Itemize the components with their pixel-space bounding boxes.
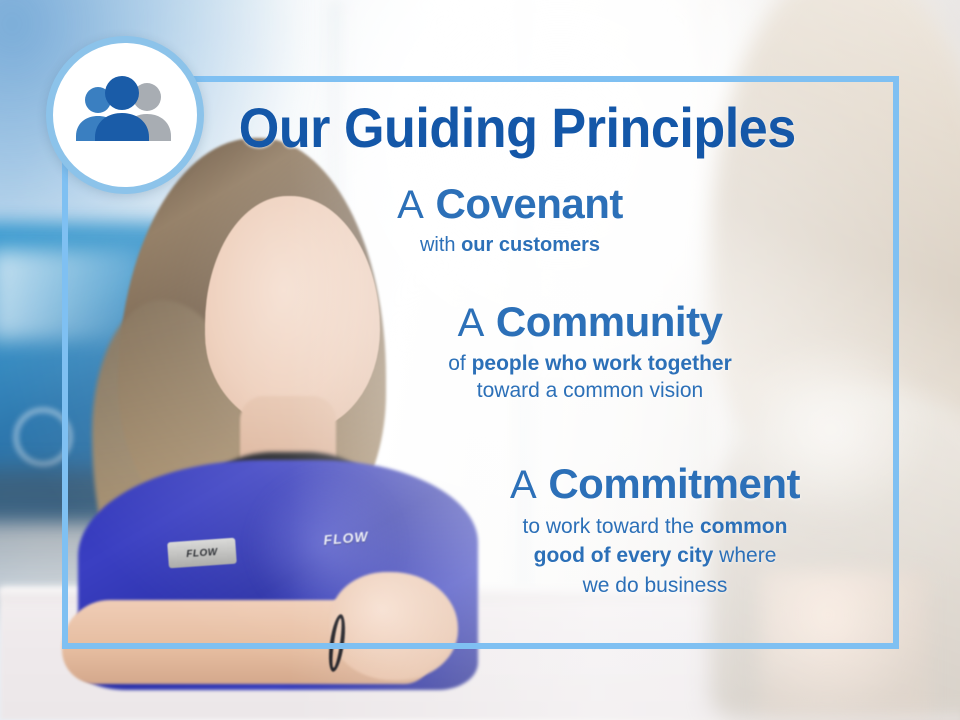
principle-heading: A Covenant xyxy=(330,182,690,227)
principle-subtext: to work toward the commongood of every c… xyxy=(440,512,870,601)
principle-heading: A Commitment xyxy=(440,462,870,507)
principle-article: A xyxy=(458,301,485,345)
principle-article: A xyxy=(510,463,537,507)
principle-word: Covenant xyxy=(436,180,623,227)
principle-article: A xyxy=(397,183,424,227)
principle-subtext: with our customers xyxy=(330,232,690,258)
principle-commitment: A Commitment to work toward the commongo… xyxy=(440,462,870,601)
principle-subtext: of people who work togethertoward a comm… xyxy=(380,350,800,405)
page-title: Our Guiding Principles xyxy=(215,95,820,160)
principle-word: Commitment xyxy=(548,460,800,507)
principle-heading: A Community xyxy=(380,300,800,345)
principle-community: A Community of people who work togethert… xyxy=(380,300,800,405)
principle-word: Community xyxy=(496,298,723,345)
principle-covenant: A Covenant with our customers xyxy=(330,182,690,258)
guiding-principles-banner: FLOW FLOW xyxy=(0,0,960,720)
banner-text-content: Our Guiding Principles A Covenant with o… xyxy=(0,0,960,720)
